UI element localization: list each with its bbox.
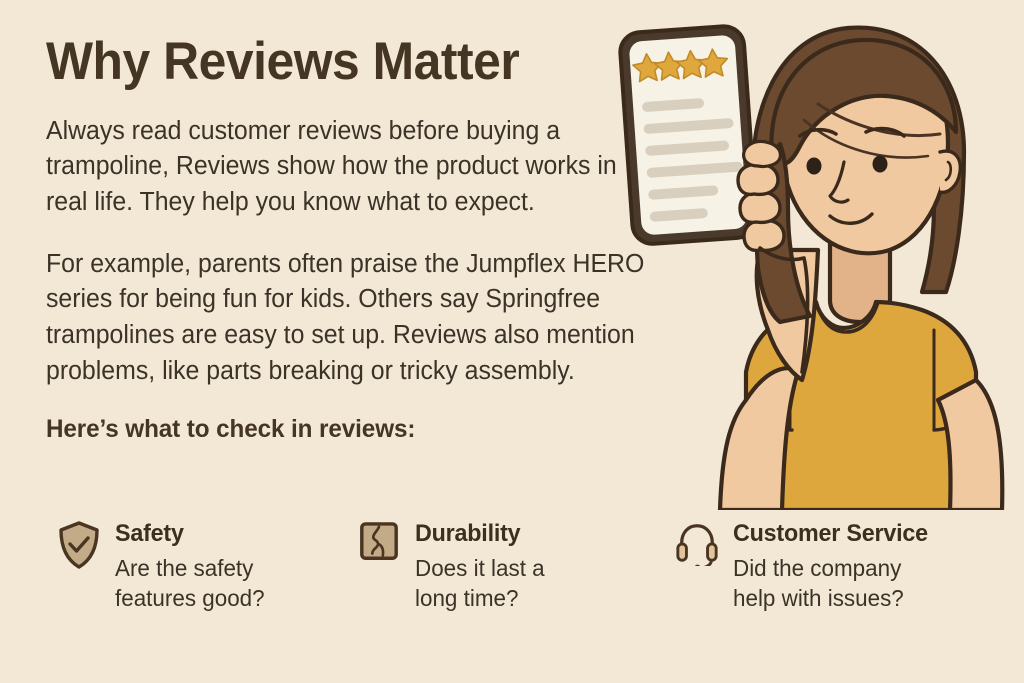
feature-desc-line: Are the safety: [115, 553, 265, 584]
hair-back: [753, 28, 964, 292]
finger-3: [738, 164, 778, 194]
intro-paragraph: Always read customer reviews before buyi…: [46, 114, 631, 221]
feature-desc-line: features good?: [115, 583, 265, 614]
feature-title-durability: Durability: [415, 520, 544, 548]
feature-item-customer-service: Customer Service Did the company help wi…: [674, 518, 996, 614]
page-title: Why Reviews Matter: [46, 34, 634, 90]
feature-desc-durability: Does it last a long time?: [415, 553, 545, 614]
feature-desc-line: Did the company: [733, 553, 929, 584]
feature-title-customer-service: Customer Service: [733, 520, 928, 548]
hair-side-left: [757, 144, 810, 322]
feature-body-customer-service: Customer Service Did the company help wi…: [733, 518, 934, 614]
mouth: [830, 214, 872, 223]
hair-strand-2: [804, 120, 928, 158]
eye-left: [807, 158, 822, 175]
shirt-collar: [816, 302, 878, 332]
finger-2: [740, 192, 780, 222]
arm-right: [938, 380, 1002, 510]
nose: [830, 162, 848, 202]
finger-4: [744, 141, 781, 166]
eye-right: [873, 156, 888, 173]
checklist-items: Safety Are the safety features good? Dur…: [56, 518, 996, 614]
tshirt: [746, 302, 976, 510]
feature-desc-customer-service: Did the company help with issues?: [733, 553, 929, 614]
sleeve-hem-right: [934, 412, 976, 430]
cracked-panel-icon: [356, 518, 402, 568]
feature-item-durability: Durability Does it last a long time?: [356, 518, 674, 614]
star-3: [676, 50, 706, 79]
ear: [940, 151, 960, 192]
checklist-subheading: Here’s what to check in reviews:: [46, 415, 652, 444]
forearm-left: [757, 250, 818, 380]
feature-item-safety: Safety Are the safety features good?: [56, 518, 356, 614]
hair-strand-1: [818, 104, 940, 136]
eyebrow-right: [866, 129, 904, 136]
feature-title-safety: Safety: [115, 520, 264, 548]
feature-desc-line: help with issues?: [733, 583, 929, 614]
eyebrow-left: [800, 130, 836, 136]
face: [780, 44, 948, 253]
infographic-canvas: Why Reviews Matter Always read customer …: [0, 0, 1024, 683]
palm-edge: [760, 248, 808, 372]
neck: [830, 244, 890, 322]
feature-desc-safety: Are the safety features good?: [115, 553, 265, 614]
headset-icon: [674, 518, 720, 568]
shield-check-icon: [56, 518, 102, 568]
text-column: Why Reviews Matter Always read customer …: [46, 34, 671, 444]
ear-inner: [946, 162, 951, 180]
arm-left: [720, 368, 798, 510]
feature-desc-line: Does it last a: [415, 553, 545, 584]
examples-paragraph: For example, parents often praise the Ju…: [46, 247, 670, 390]
finger-1: [744, 220, 784, 250]
hair-front: [771, 40, 956, 164]
star-4: [698, 48, 728, 77]
feature-body-safety: Safety Are the safety features good?: [115, 518, 268, 614]
feature-desc-line: long time?: [415, 583, 545, 614]
feature-body-durability: Durability Does it last a long time?: [415, 518, 548, 614]
sleeve-hem-left: [746, 412, 792, 430]
